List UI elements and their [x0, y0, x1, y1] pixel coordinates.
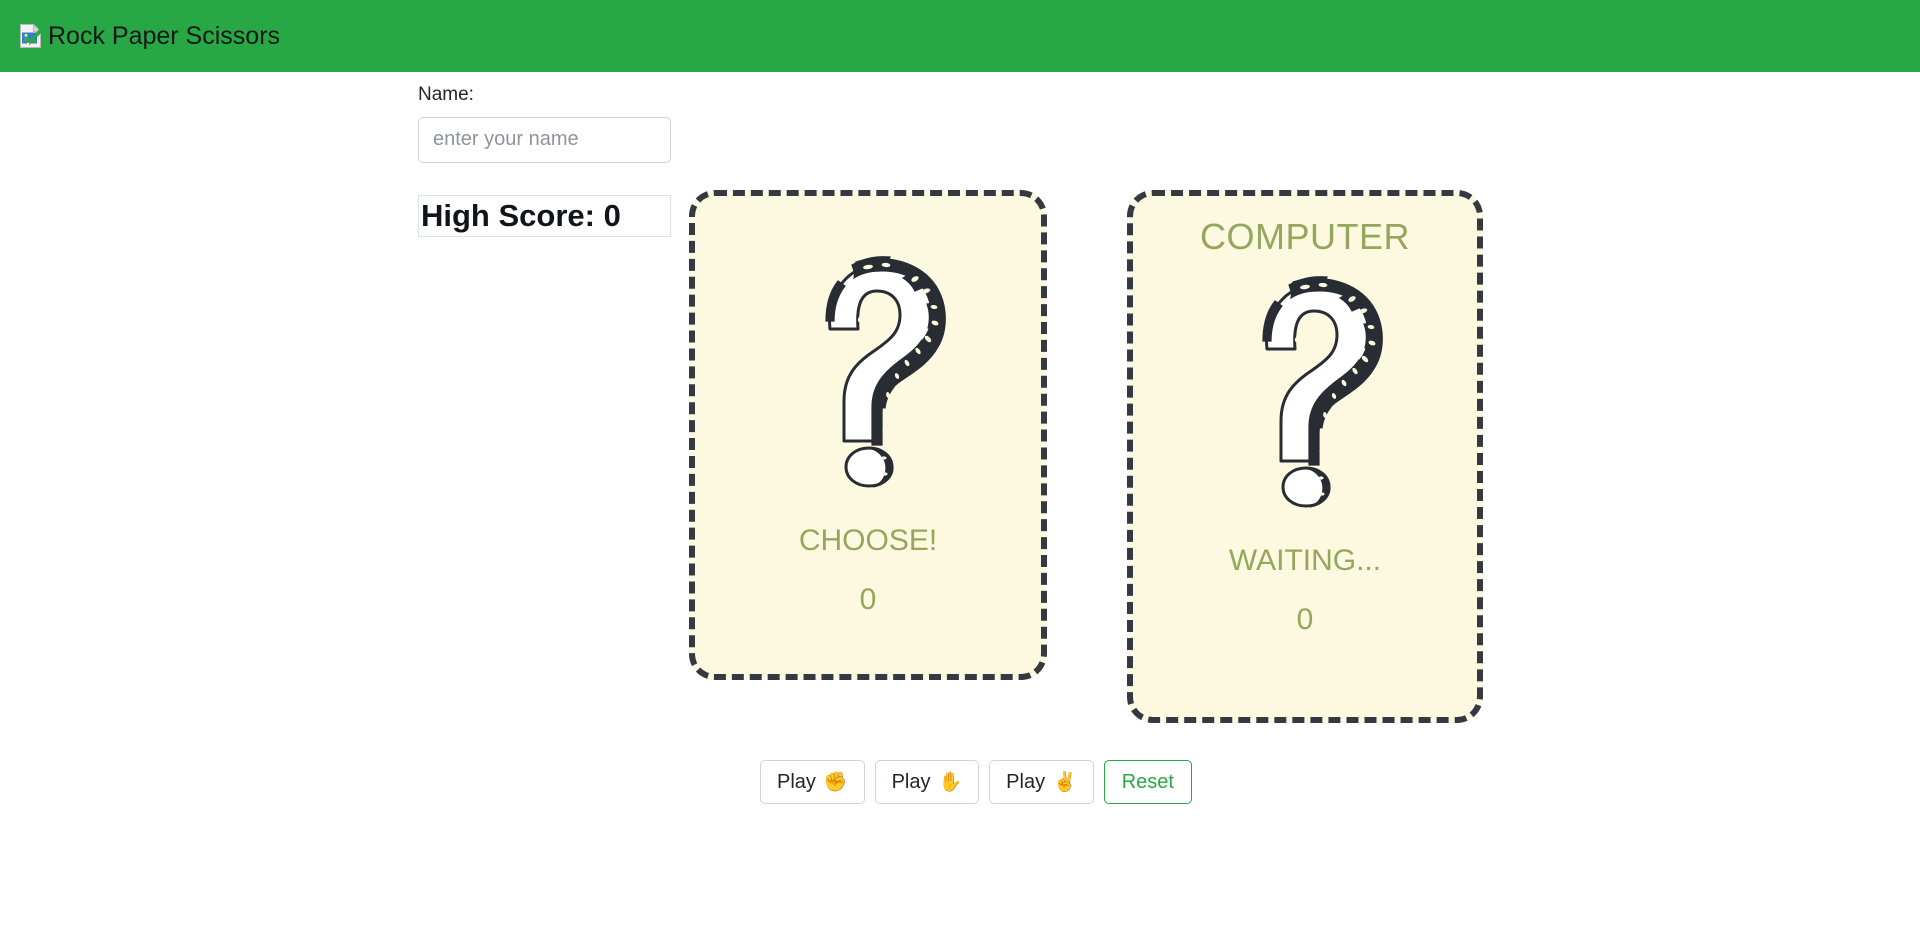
play-scissors-button[interactable]: Play ✌️ [989, 760, 1094, 804]
player-score: 0 [860, 580, 877, 619]
computer-card: COMPUTER [1127, 190, 1483, 723]
high-score-label: High Score: 0 [421, 200, 621, 231]
name-input[interactable] [418, 117, 671, 163]
brand-title: Rock Paper Scissors [48, 24, 280, 49]
app-header: Rock Paper Scissors [0, 0, 1920, 72]
game-controls: Play ✊ Play ✋ Play ✌️ Reset [760, 760, 1192, 804]
raised-hand-paper-icon: ✋ [938, 773, 962, 792]
player-card: CHOOSE! 0 [689, 190, 1047, 680]
question-mark-sketch-icon [1205, 265, 1405, 535]
high-score-box: High Score: 0 [418, 195, 671, 237]
player-status: CHOOSE! [799, 521, 937, 560]
play-rock-label: Play [777, 770, 816, 794]
fist-rock-icon: ✊ [824, 773, 848, 792]
play-paper-label: Play [892, 770, 931, 794]
name-label: Name: [418, 84, 673, 107]
play-scissors-label: Play [1006, 770, 1045, 794]
brand[interactable]: Rock Paper Scissors [18, 23, 280, 49]
player-info-panel: Name: High Score: 0 [418, 84, 673, 237]
page-body: Name: High Score: 0 [0, 72, 1920, 942]
victory-hand-scissors-icon: ✌️ [1053, 773, 1077, 792]
computer-score: 0 [1297, 600, 1314, 639]
play-rock-button[interactable]: Play ✊ [760, 760, 865, 804]
reset-button[interactable]: Reset [1104, 760, 1192, 804]
broken-image-icon [18, 23, 44, 49]
computer-status: WAITING... [1229, 541, 1381, 580]
play-paper-button[interactable]: Play ✋ [875, 760, 980, 804]
computer-card-title: COMPUTER [1200, 214, 1410, 259]
question-mark-sketch-icon [768, 245, 968, 515]
